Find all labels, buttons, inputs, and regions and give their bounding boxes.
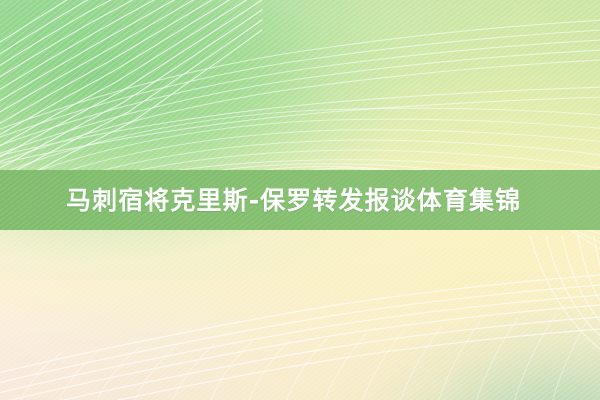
- banner-image: 马刺宿将克里斯-保罗转发报谈体育集锦: [0, 0, 600, 400]
- title-band: 马刺宿将克里斯-保罗转发报谈体育集锦: [0, 170, 600, 230]
- banner-title: 马刺宿将克里斯-保罗转发报谈体育集锦: [66, 188, 521, 213]
